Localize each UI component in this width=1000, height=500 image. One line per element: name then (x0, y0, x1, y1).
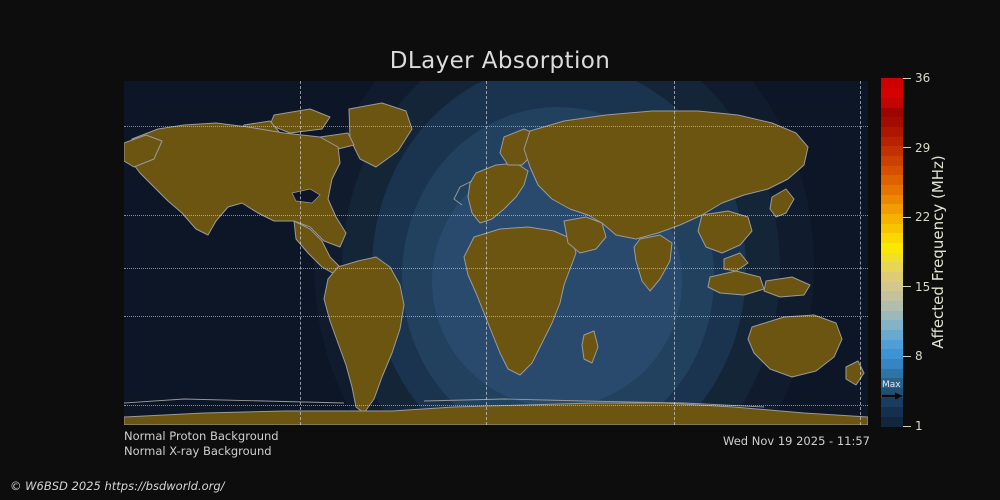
colorbar-segment (881, 136, 903, 146)
colorbar-segment (881, 407, 903, 417)
colorbar-segment (881, 358, 903, 368)
colorbar-segment (881, 184, 903, 194)
colorbar-segment (881, 271, 903, 281)
colorbar-axis-label: Affected Frequency (MHz) (925, 78, 951, 426)
colorbar-segment (881, 175, 903, 185)
tick-mark (903, 426, 911, 427)
colorbar-gradient (881, 78, 903, 426)
status-messages: Normal Proton Background Normal X-ray Ba… (124, 429, 279, 459)
colorbar-segment (881, 368, 903, 378)
colorbar-segment (881, 320, 903, 330)
colorbar-segment (881, 78, 903, 88)
colorbar-segment (881, 194, 903, 204)
colorbar-segment (881, 165, 903, 175)
app-root: DLayer Absorption (0, 0, 1000, 500)
colorbar-tick: 8 (903, 349, 923, 363)
colorbar-segment (881, 204, 903, 214)
colorbar-segment (881, 339, 903, 349)
colorbar-segment (881, 300, 903, 310)
colorbar-segment (881, 213, 903, 223)
world-map-panel[interactable] (124, 81, 868, 425)
world-coastlines (124, 81, 868, 425)
colorbar-segment (881, 126, 903, 136)
colorbar-segment (881, 146, 903, 156)
colorbar-segment (881, 107, 903, 117)
arrow-right-icon (882, 392, 904, 400)
colorbar[interactable] (881, 78, 903, 426)
tick-mark (903, 78, 911, 79)
colorbar-max-label: Max (882, 380, 901, 390)
tick-mark (903, 147, 911, 148)
colorbar-segment (881, 97, 903, 107)
colorbar-segment (881, 223, 903, 233)
colorbar-segment (881, 262, 903, 272)
colorbar-segment (881, 233, 903, 243)
tick-mark (903, 356, 911, 357)
timestamp: Wed Nov 19 2025 - 11:57 (723, 434, 870, 448)
colorbar-segment (881, 155, 903, 165)
tick-mark (903, 217, 911, 218)
colorbar-segment (881, 252, 903, 262)
page-title: DLayer Absorption (0, 48, 1000, 74)
status-proton-background: Normal Proton Background (124, 429, 279, 444)
tick-label: 1 (915, 419, 923, 433)
colorbar-segment (881, 349, 903, 359)
colorbar-tick: 1 (903, 419, 923, 433)
colorbar-max-marker: Max (881, 381, 905, 403)
status-xray-background: Normal X-ray Background (124, 444, 279, 459)
colorbar-segment (881, 416, 903, 426)
colorbar-segment (881, 281, 903, 291)
tick-mark (903, 286, 911, 287)
colorbar-segment (881, 310, 903, 320)
colorbar-segment (881, 117, 903, 127)
copyright-credit: © W6BSD 2025 https://bsdworld.org/ (10, 479, 225, 493)
colorbar-segment (881, 329, 903, 339)
tick-label: 8 (915, 349, 923, 363)
colorbar-axis-label-text: Affected Frequency (MHz) (929, 155, 947, 349)
colorbar-segment (881, 88, 903, 98)
colorbar-segment (881, 242, 903, 252)
colorbar-segment (881, 291, 903, 301)
